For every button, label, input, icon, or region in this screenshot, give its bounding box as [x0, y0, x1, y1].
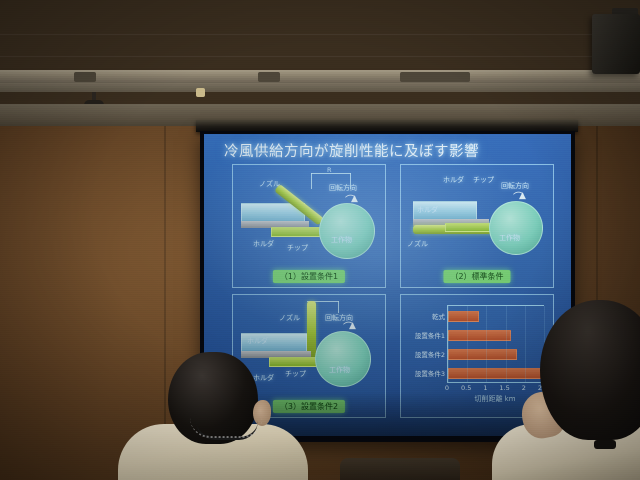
- chart-tick-mark: [525, 306, 526, 382]
- chip-label: チップ: [285, 369, 306, 379]
- lanyard-beads: [190, 418, 262, 438]
- chart-tick-mark: [506, 306, 507, 382]
- ceiling-panel-line: [0, 34, 640, 35]
- workpiece: [319, 203, 375, 259]
- track-fitting: [258, 72, 280, 82]
- track-fitting: [400, 72, 470, 82]
- holder-label: ホルダ: [253, 373, 274, 383]
- chart-bar: [448, 311, 479, 322]
- chart-x-tick: 1.5: [499, 384, 509, 392]
- nozzle-label: ノズル: [279, 313, 300, 323]
- panel-1-caption: （1）設置条件1: [273, 270, 345, 283]
- chart-category-label: 設置条件2: [415, 349, 445, 359]
- workpiece: [315, 331, 371, 387]
- chart-category-label: 乾式: [432, 311, 445, 321]
- diagram-panel-1: R ⌒ ▲ ノズル 回転方向 ホルダ チップ 工作物 （1）設置条件1: [232, 164, 386, 288]
- workpiece-label: 工作物: [499, 233, 520, 243]
- holder-label: ホルダ: [443, 175, 464, 185]
- cutting-chip: [271, 227, 321, 237]
- chart-tick-mark: [448, 306, 449, 382]
- holder-inner-label: ホルダ: [247, 336, 268, 346]
- glasses-temple: [594, 440, 616, 449]
- workpiece-label: 工作物: [329, 365, 350, 375]
- diagram-panel-2: ⌒ ▲ ホルダ チップ 回転方向 ホルダ ノズル 工作物 （2）標準条件: [400, 164, 554, 288]
- nozzle-label: ノズル: [259, 179, 280, 189]
- rotation-label: 回転方向: [501, 181, 529, 191]
- rotation-arrow-head-icon: ▲: [519, 191, 526, 201]
- nozzle-label: ノズル: [407, 239, 428, 249]
- chart-category-label: 設置条件3: [415, 368, 445, 378]
- slide-title: 冷風供給方向が旋削性能に及ぼす影響: [224, 140, 556, 161]
- ceiling-track-light: [0, 70, 640, 83]
- conference-room-photo: 冷風供給方向が旋削性能に及ぼす影響 R ⌒ ▲ ノズル 回転方向 ホルダ チップ…: [0, 0, 640, 480]
- dimension-tick: [311, 173, 312, 189]
- chart-category-label: 設置条件1: [415, 330, 445, 340]
- rotation-label: 回転方向: [329, 183, 357, 193]
- chart-plot-area: [447, 305, 544, 383]
- chart-tick-mark: [486, 306, 487, 382]
- ceiling-track-light-lower: [0, 83, 640, 92]
- chart-tick-mark: [467, 306, 468, 382]
- chart-x-tick: 0: [445, 384, 449, 392]
- panel-2-caption: （2）標準条件: [443, 270, 510, 283]
- workpiece: [489, 201, 543, 255]
- chart-bar: [448, 368, 546, 379]
- wall-speaker: [592, 14, 640, 74]
- cutting-chip: [269, 357, 317, 367]
- chart-bar: [448, 330, 511, 341]
- track-fitting: [74, 72, 96, 82]
- chair-back: [340, 458, 460, 480]
- holder-inner-label: ホルダ: [417, 205, 438, 215]
- ceiling-panel-line: [0, 56, 640, 57]
- holder-label: ホルダ: [253, 239, 274, 249]
- chip-label: チップ: [287, 243, 308, 253]
- chip-label: チップ: [473, 175, 494, 185]
- chart-x-tick: 0.5: [461, 384, 471, 392]
- workpiece-label: 工作物: [331, 235, 352, 245]
- dimension-label: R: [327, 166, 332, 174]
- rotation-label: 回転方向: [325, 313, 353, 323]
- chart-x-tick: 2: [522, 384, 526, 392]
- ceiling-mount-bracket: [196, 88, 205, 97]
- chart-x-tick: 1: [483, 384, 487, 392]
- rotation-arrow-head-icon: ▲: [351, 194, 358, 204]
- attendee-right-head: [540, 300, 640, 440]
- projection-screen: 冷風供給方向が旋削性能に及ぼす影響 R ⌒ ▲ ノズル 回転方向 ホルダ チップ…: [204, 134, 571, 436]
- chart-bar: [448, 349, 517, 360]
- dimension-tick: [338, 301, 339, 313]
